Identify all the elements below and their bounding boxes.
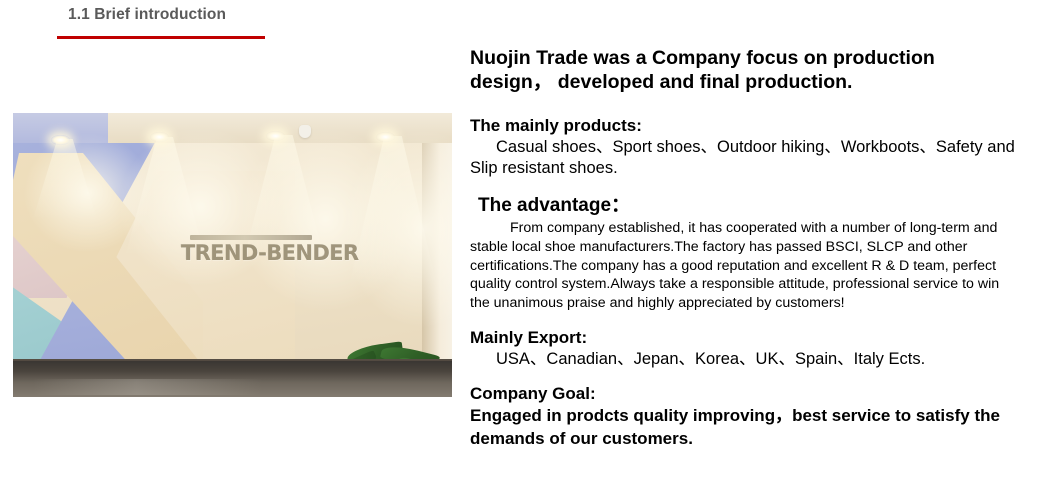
advantage-heading: The advantage：	[470, 194, 1015, 219]
export-heading: Mainly Export:	[470, 327, 1015, 349]
photo-spotlight	[376, 132, 395, 142]
photo-ceiling-fixture	[299, 125, 311, 138]
photo-wall-signage: TREND-BENDER	[181, 235, 386, 271]
photo-signage-bar	[190, 235, 312, 240]
products-body: Casual shoes、Sport shoes、Outdoor hiking、…	[470, 137, 1015, 179]
photo-spotlight	[51, 135, 70, 145]
photo-signage-text: TREND-BENDER	[181, 241, 359, 265]
title-underline-rule	[57, 36, 265, 39]
photo-floor-reflection	[33, 379, 263, 395]
photo-spotlight	[266, 131, 285, 141]
company-headline: Nuojin Trade was a Company focus on prod…	[470, 46, 1015, 95]
introduction-text-column: Nuojin Trade was a Company focus on prod…	[470, 46, 1015, 450]
export-body: USA、Canadian、Jepan、Korea、UK、Spain、Italy …	[470, 349, 1015, 370]
products-heading: The mainly products:	[470, 115, 1015, 137]
photo-spotlight	[150, 132, 169, 142]
page-title: 1.1 Brief introduction	[68, 6, 226, 24]
advantage-body: From company established, it has coopera…	[470, 219, 1015, 313]
company-lobby-photo: TREND-BENDER	[13, 113, 452, 397]
goal-heading: Company Goal:	[470, 383, 1015, 405]
goal-body: Engaged in prodcts quality improving，bes…	[470, 405, 1015, 450]
